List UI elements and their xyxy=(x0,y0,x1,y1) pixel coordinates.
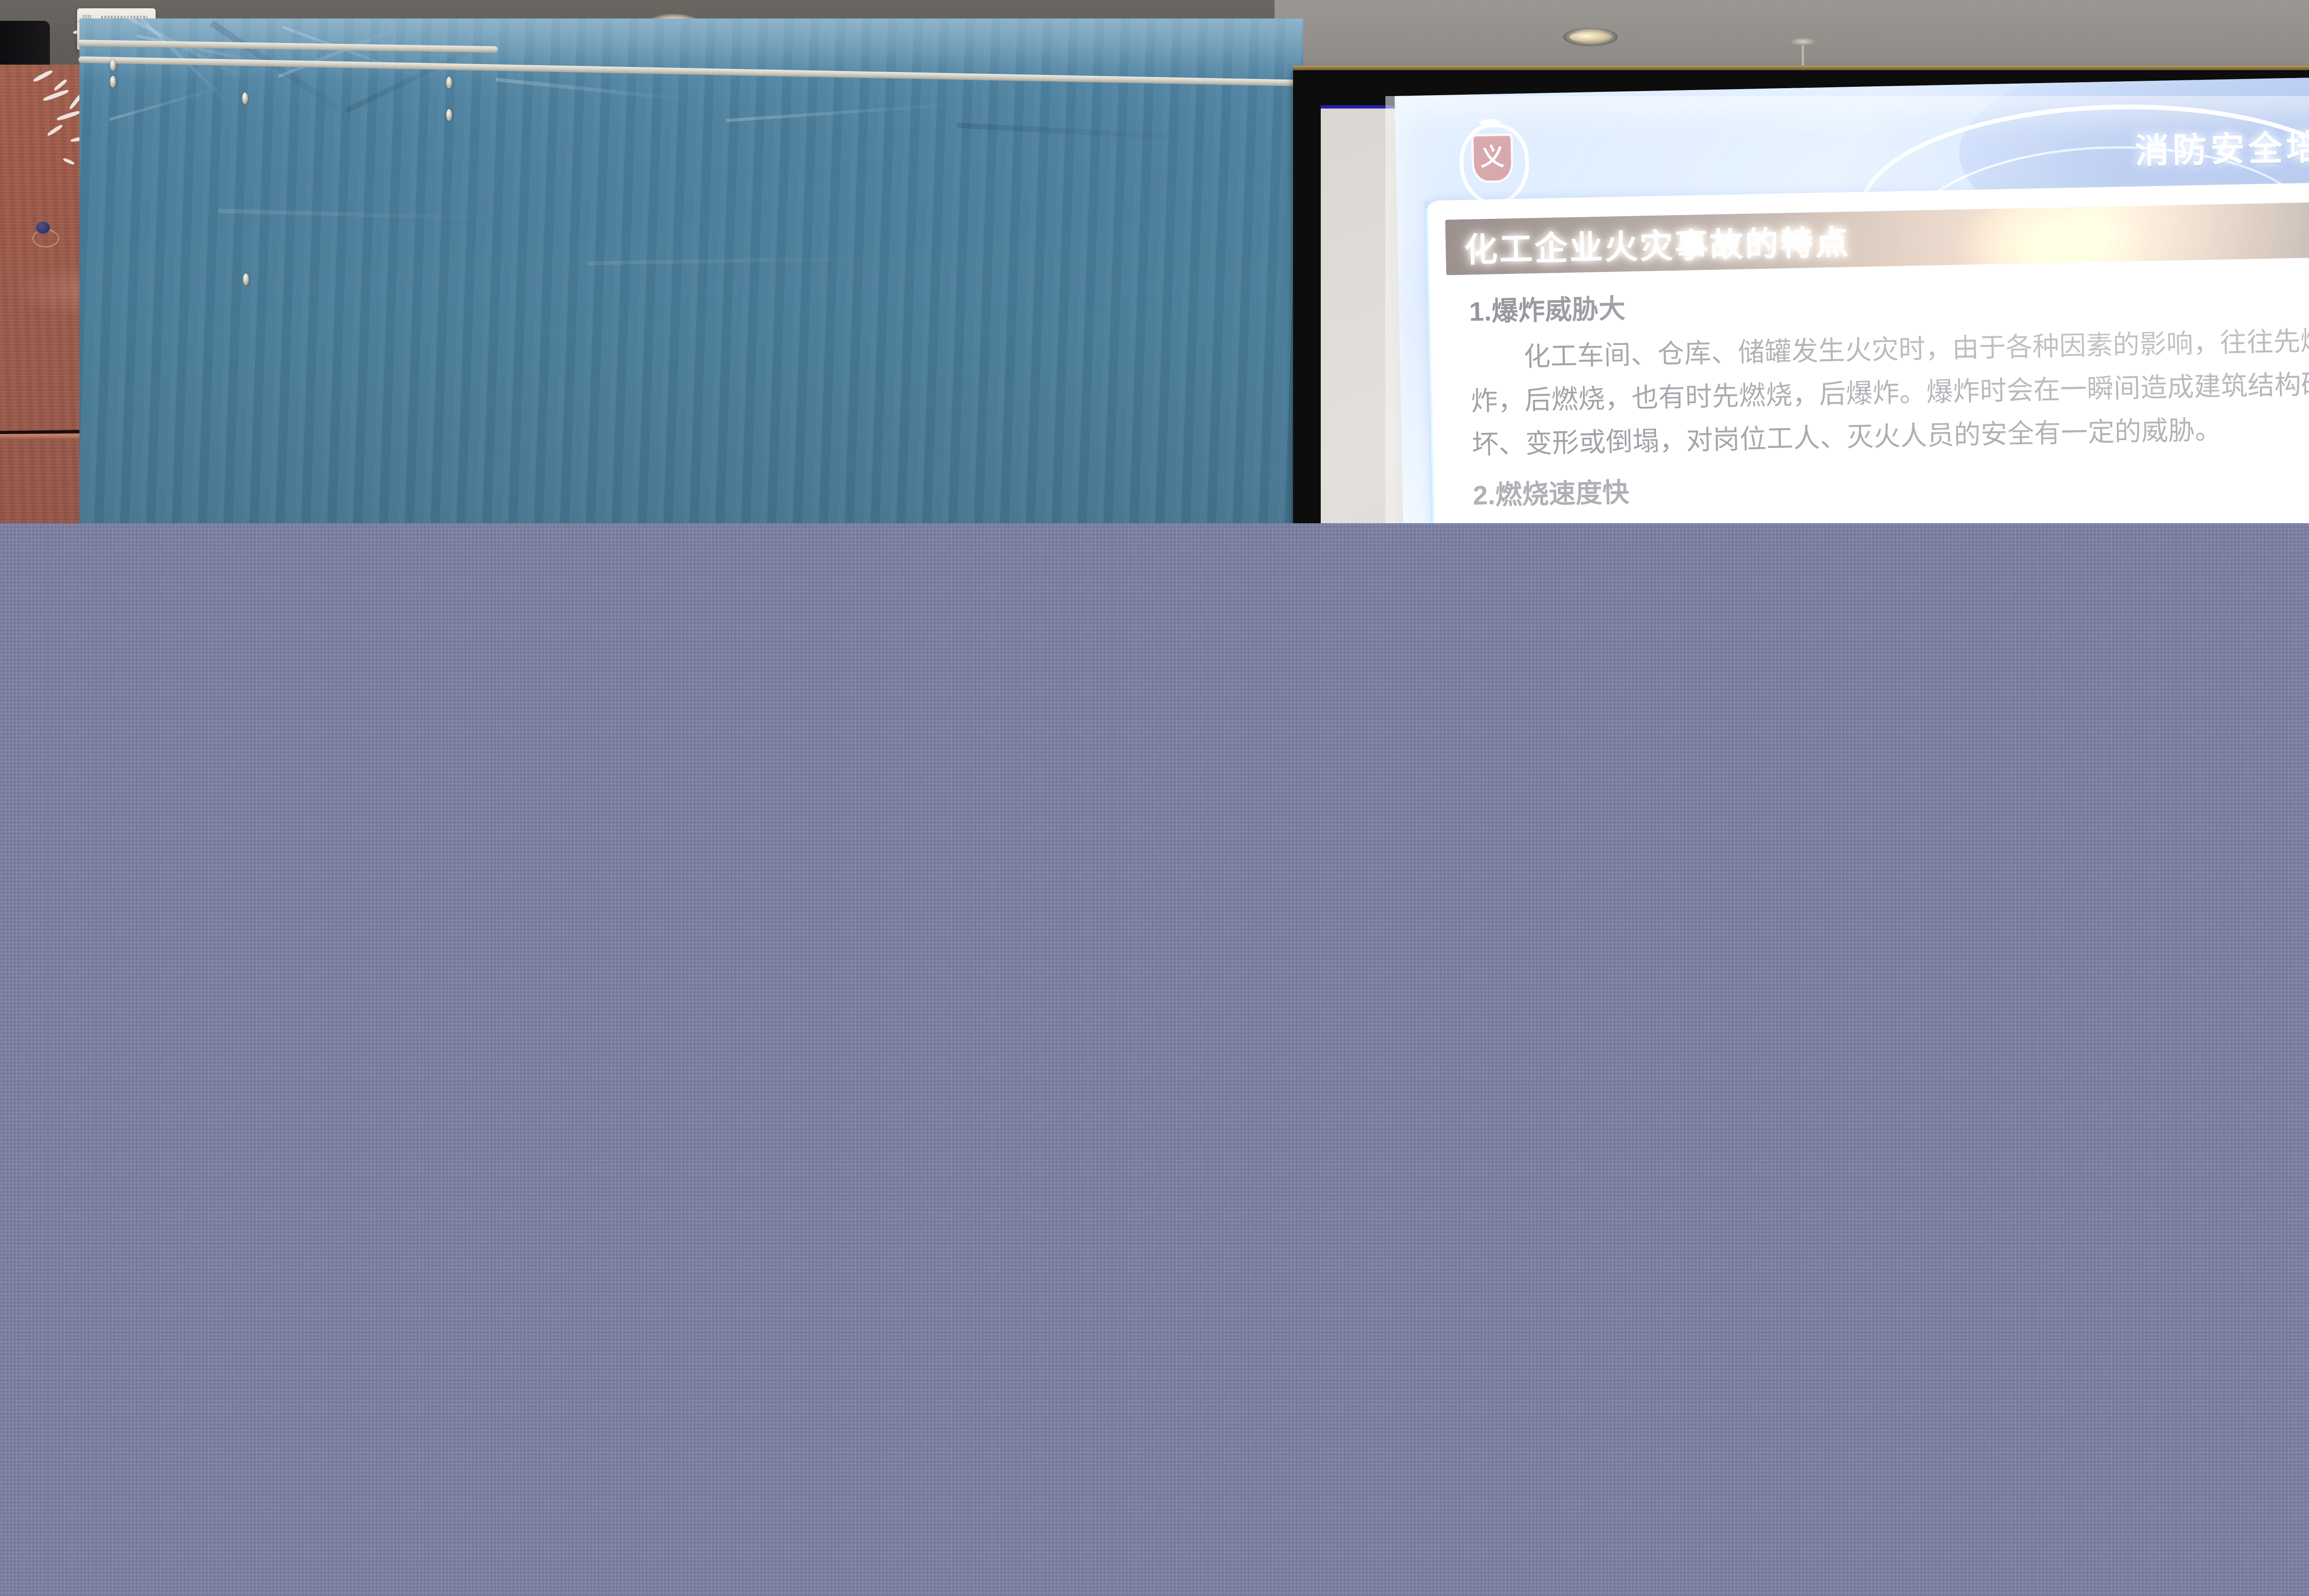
slide-paragraph-1: 化工车间、仓库、储罐发生火灾时，由于各种因素的影响，往往先爆炸，后燃烧，也有时先… xyxy=(1469,319,2309,467)
blue-tarpaulin xyxy=(79,18,384,523)
slide-section-title-bar: 化工企业火灾事故的特点 xyxy=(1445,201,2309,275)
slide-content-card: 化工企业火灾事故的特点 1.爆炸威胁大 化工车间、仓库、储罐发生火灾时，由于各种… xyxy=(1425,181,2309,523)
slide-item-1: 1.爆炸威胁大 xyxy=(1469,294,1626,327)
tarp-grommet xyxy=(446,77,452,89)
slide-body: 1.爆炸威胁大 化工车间、仓库、储罐发生火灾时，由于各种因素的影响，往往先爆炸，… xyxy=(1469,272,2309,517)
projector-screen-surface: 消防安全培训 义 化工企业火灾事故的特点 xyxy=(1321,105,2309,523)
emblem-mark: 义 xyxy=(1480,145,1505,169)
tarp-grommet xyxy=(110,59,116,71)
title-bar-flare xyxy=(1952,201,2148,275)
downlight-icon xyxy=(1563,28,1618,46)
tarp-sheet xyxy=(79,18,1303,523)
cropped-region-pattern xyxy=(0,523,2309,1596)
wall-fixing-icon xyxy=(36,222,50,234)
tarp-grommet xyxy=(110,76,116,88)
projector-screen-frame: 消防安全培训 义 化工企业火灾事故的特点 xyxy=(1293,69,2309,523)
slide-item-2: 2.燃烧速度快 xyxy=(1472,456,2309,518)
room-photo: 消防安全培训 义 化工企业火灾事故的特点 xyxy=(0,0,2309,523)
downlight-lens xyxy=(1570,32,1611,42)
screenshot-root: 消防安全培训 义 化工企业火灾事故的特点 xyxy=(0,0,2309,1596)
cropped-region xyxy=(0,523,2309,1596)
tarp-grommet xyxy=(242,92,248,104)
fire-service-emblem-icon: 义 xyxy=(1455,116,1526,203)
slide-header-title: 消防安全培训 xyxy=(2134,119,2309,173)
projected-slide: 消防安全培训 义 化工企业火灾事故的特点 xyxy=(1395,76,2309,523)
tarp-grommet xyxy=(446,109,452,121)
tarp-grommet xyxy=(243,273,249,285)
emblem-shield: 义 xyxy=(1471,133,1514,183)
slide-section-title: 化工企业火灾事故的特点 xyxy=(1464,215,1851,272)
slide-card-edge xyxy=(1425,200,1439,523)
